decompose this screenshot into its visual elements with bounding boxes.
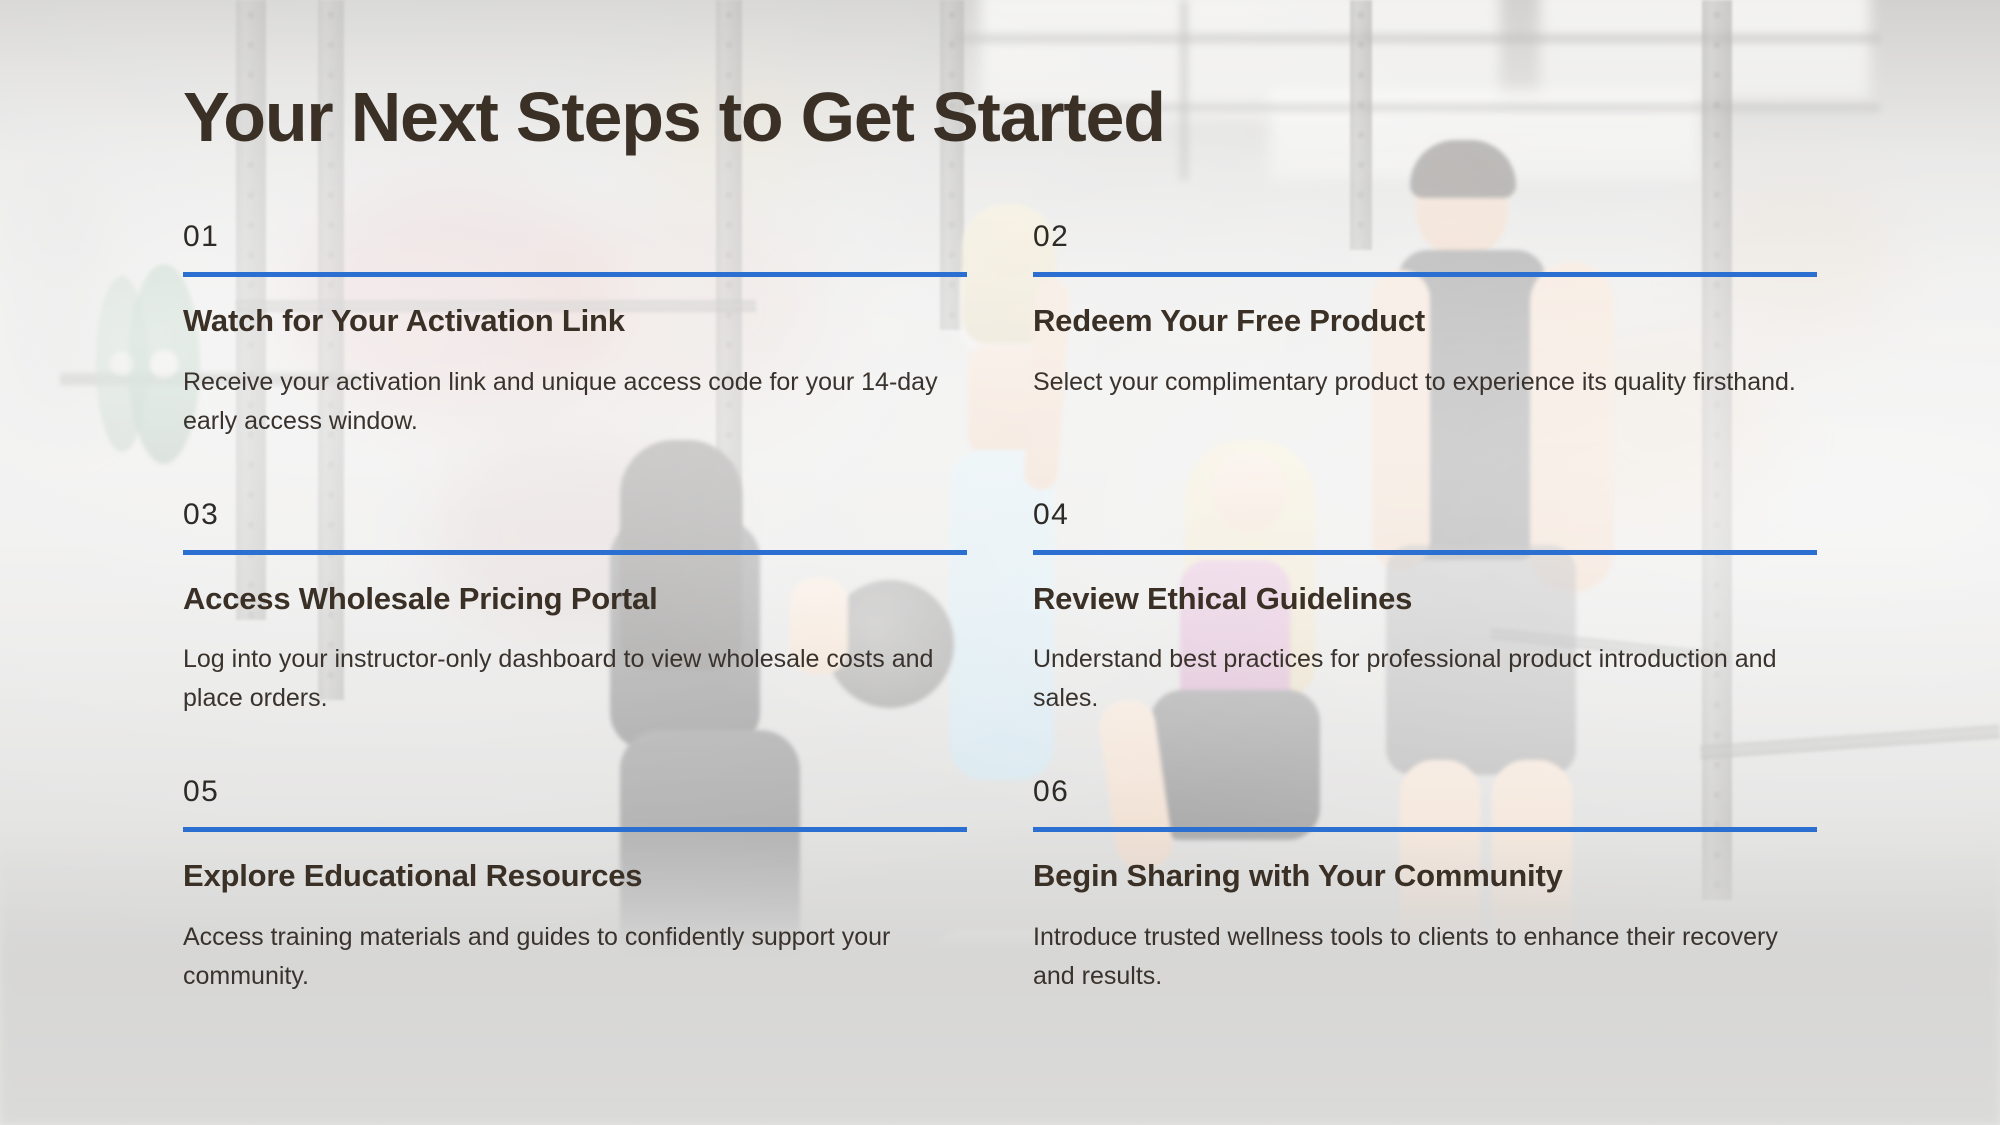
step-description: Receive your activation link and unique …: [183, 363, 953, 441]
step-card-02: 02 Redeem Your Free Product Select your …: [1033, 222, 1817, 441]
step-heading: Redeem Your Free Product: [1033, 303, 1817, 339]
steps-grid: 01 Watch for Your Activation Link Receiv…: [183, 222, 1817, 996]
slide-content: Your Next Steps to Get Started 01 Watch …: [0, 0, 2000, 1125]
step-heading: Begin Sharing with Your Community: [1033, 858, 1817, 894]
step-divider: [1033, 827, 1817, 832]
step-divider: [1033, 550, 1817, 555]
step-description: Log into your instructor-only dashboard …: [183, 640, 953, 718]
step-description: Access training materials and guides to …: [183, 918, 953, 996]
step-divider: [183, 550, 967, 555]
step-card-03: 03 Access Wholesale Pricing Portal Log i…: [183, 500, 967, 719]
step-number: 02: [1033, 222, 1817, 252]
step-heading: Explore Educational Resources: [183, 858, 967, 894]
step-number: 05: [183, 777, 967, 807]
step-number: 04: [1033, 500, 1817, 530]
page-title: Your Next Steps to Get Started: [183, 82, 1165, 152]
step-card-04: 04 Review Ethical Guidelines Understand …: [1033, 500, 1817, 719]
step-heading: Watch for Your Activation Link: [183, 303, 967, 339]
step-card-05: 05 Explore Educational Resources Access …: [183, 777, 967, 996]
step-heading: Review Ethical Guidelines: [1033, 581, 1817, 617]
step-number: 03: [183, 500, 967, 530]
step-description: Understand best practices for profession…: [1033, 640, 1803, 718]
step-number: 06: [1033, 777, 1817, 807]
step-number: 01: [183, 222, 967, 252]
step-divider: [183, 272, 967, 277]
step-card-06: 06 Begin Sharing with Your Community Int…: [1033, 777, 1817, 996]
step-heading: Access Wholesale Pricing Portal: [183, 581, 967, 617]
step-card-01: 01 Watch for Your Activation Link Receiv…: [183, 222, 967, 441]
step-divider: [183, 827, 967, 832]
step-description: Introduce trusted wellness tools to clie…: [1033, 918, 1803, 996]
step-divider: [1033, 272, 1817, 277]
step-description: Select your complimentary product to exp…: [1033, 363, 1803, 402]
